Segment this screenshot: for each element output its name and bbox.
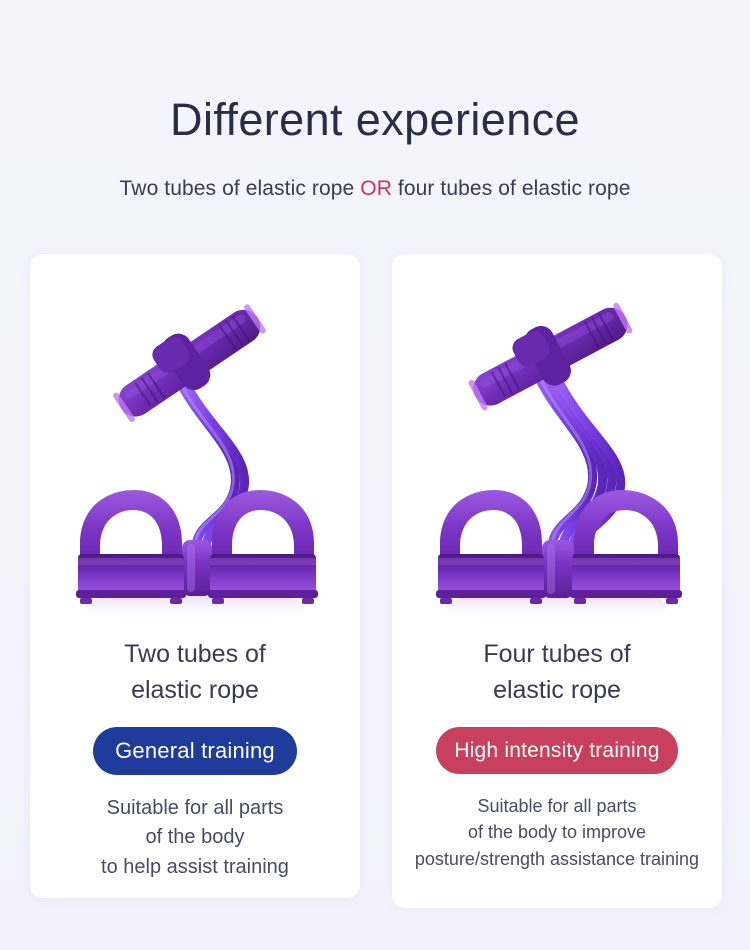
- card-heading-line1: Four tubes of: [483, 640, 630, 668]
- page-title: Different experience: [0, 96, 750, 143]
- desc-line-3: to help assist training: [101, 856, 289, 878]
- badge-general-training[interactable]: General training: [93, 727, 297, 775]
- foot-pedal-right: [208, 490, 318, 604]
- comparison-cards: Two tubes of elastic rope General traini…: [30, 254, 722, 908]
- subtitle-after: four tubes of elastic rope: [392, 177, 631, 200]
- card-heading-line1: Two tubes of: [124, 640, 266, 668]
- infographic-page: Different experience Two tubes of elasti…: [0, 0, 750, 950]
- pedal-connector: [542, 540, 574, 598]
- card-description-four-tubes: Suitable for all parts of the body to im…: [415, 793, 699, 873]
- desc-line-2: of the body: [146, 826, 245, 848]
- card-heading-two-tubes: Two tubes of elastic rope: [124, 636, 266, 709]
- foot-pedal-right: [570, 490, 682, 604]
- badge-high-intensity-training[interactable]: High intensity training: [436, 727, 677, 774]
- desc-line-2: of the body to improve: [468, 822, 646, 842]
- card-description-two-tubes: Suitable for all parts of the body to he…: [101, 794, 289, 883]
- product-card-two-tubes[interactable]: Two tubes of elastic rope General traini…: [30, 254, 360, 898]
- desc-line-1: Suitable for all parts: [107, 797, 284, 819]
- header: Different experience Two tubes of elasti…: [0, 0, 750, 201]
- desc-line-3: posture/strength assistance training: [415, 849, 699, 869]
- foot-pedal-left: [436, 490, 546, 604]
- foot-pedal-left: [76, 490, 186, 604]
- card-heading-four-tubes: Four tubes of elastic rope: [483, 636, 630, 709]
- page-subtitle: Two tubes of elastic rope OR four tubes …: [0, 177, 750, 201]
- product-image-two-tubes: [30, 254, 360, 644]
- desc-line-1: Suitable for all parts: [477, 796, 636, 816]
- subtitle-or-accent: OR: [360, 177, 392, 200]
- product-card-four-tubes[interactable]: Four tubes of elastic rope High intensit…: [392, 254, 722, 908]
- card-heading-line2: elastic rope: [131, 676, 259, 704]
- product-image-four-tubes: [392, 254, 722, 644]
- card-heading-line2: elastic rope: [493, 676, 621, 704]
- subtitle-before: Two tubes of elastic rope: [120, 177, 361, 200]
- pedal-connector: [182, 540, 212, 596]
